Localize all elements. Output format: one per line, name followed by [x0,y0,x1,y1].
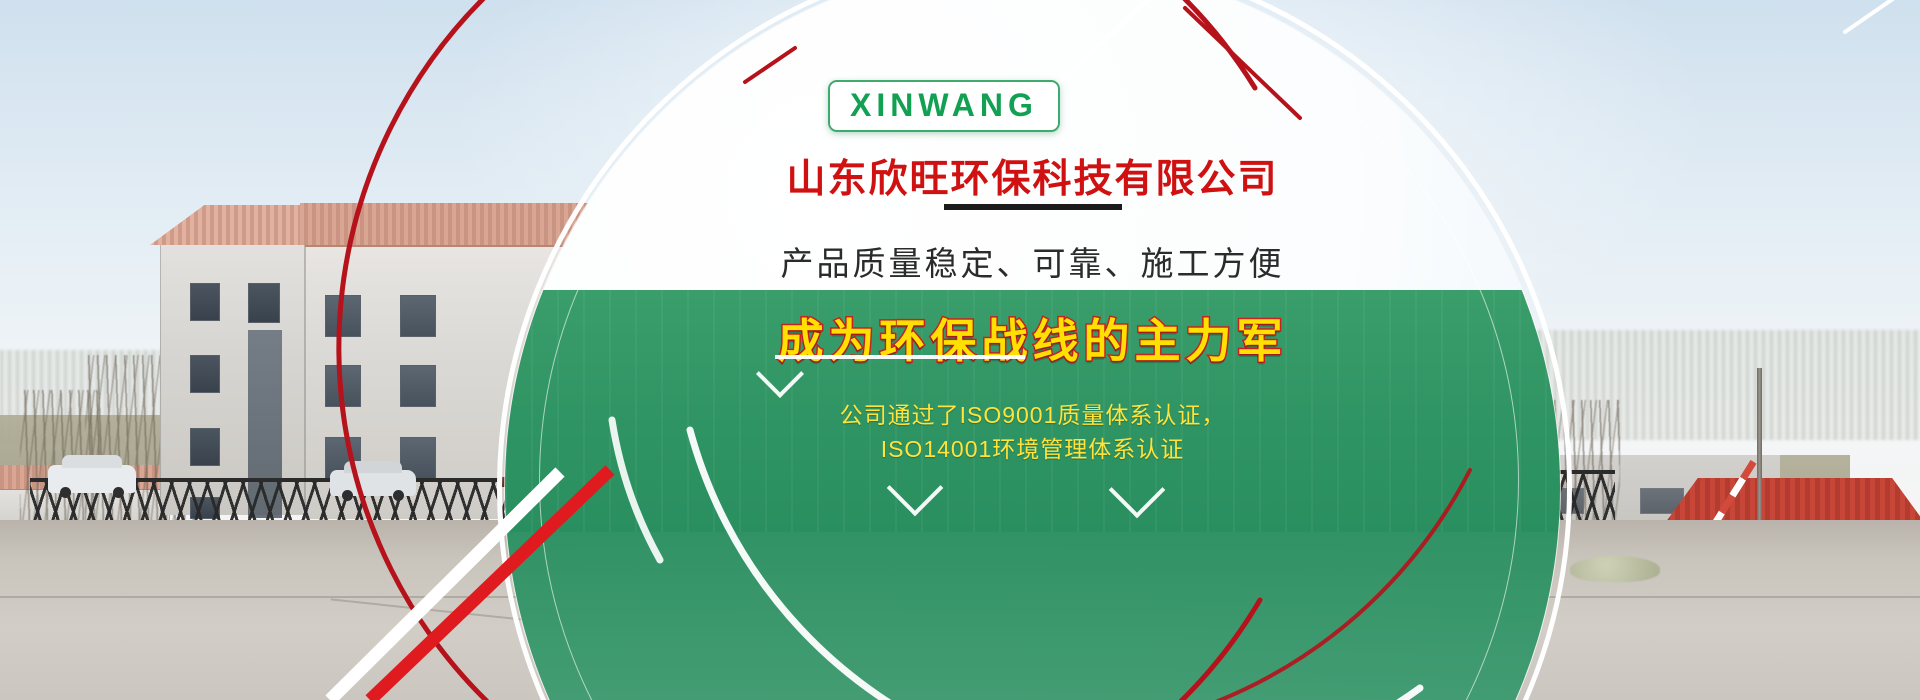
chevron-down-icon [1109,462,1166,519]
slogan-text: 产品质量稳定、可靠、施工方便 [505,237,1560,285]
iso-certification-text: 公司通过了ISO9001质量体系认证， ISO14001环境管理体系认证 [505,398,1560,466]
window [190,283,220,321]
window [248,283,280,323]
brand-badge-label: XINWANG [850,87,1038,123]
window [325,365,361,407]
brand-badge: XINWANG [828,80,1060,132]
window [400,295,436,337]
headline-text: 成为环保战线的主力军 [505,305,1560,371]
main-building-left-face [160,245,305,515]
iso-line-2: ISO14001环境管理体系认证 [505,432,1560,466]
window [325,295,361,337]
car [330,470,416,496]
banner-stage: 山东欣旺环保科技有限公司 [0,0,1920,700]
iso-line-1: 公司通过了ISO9001质量体系认证， [505,398,1560,432]
window [190,355,220,393]
chevron-rule-icon [775,355,1025,359]
company-name: 山东欣旺环保科技有限公司 [505,148,1560,204]
window [190,428,220,466]
title-divider [944,204,1122,210]
shrub [1570,556,1660,582]
chevron-down-icon [887,460,944,517]
car [48,465,136,493]
banner-content: XINWANG 山东欣旺环保科技有限公司 产品质量稳定、可靠、施工方便 成为环保… [505,0,1560,700]
window [400,365,436,407]
